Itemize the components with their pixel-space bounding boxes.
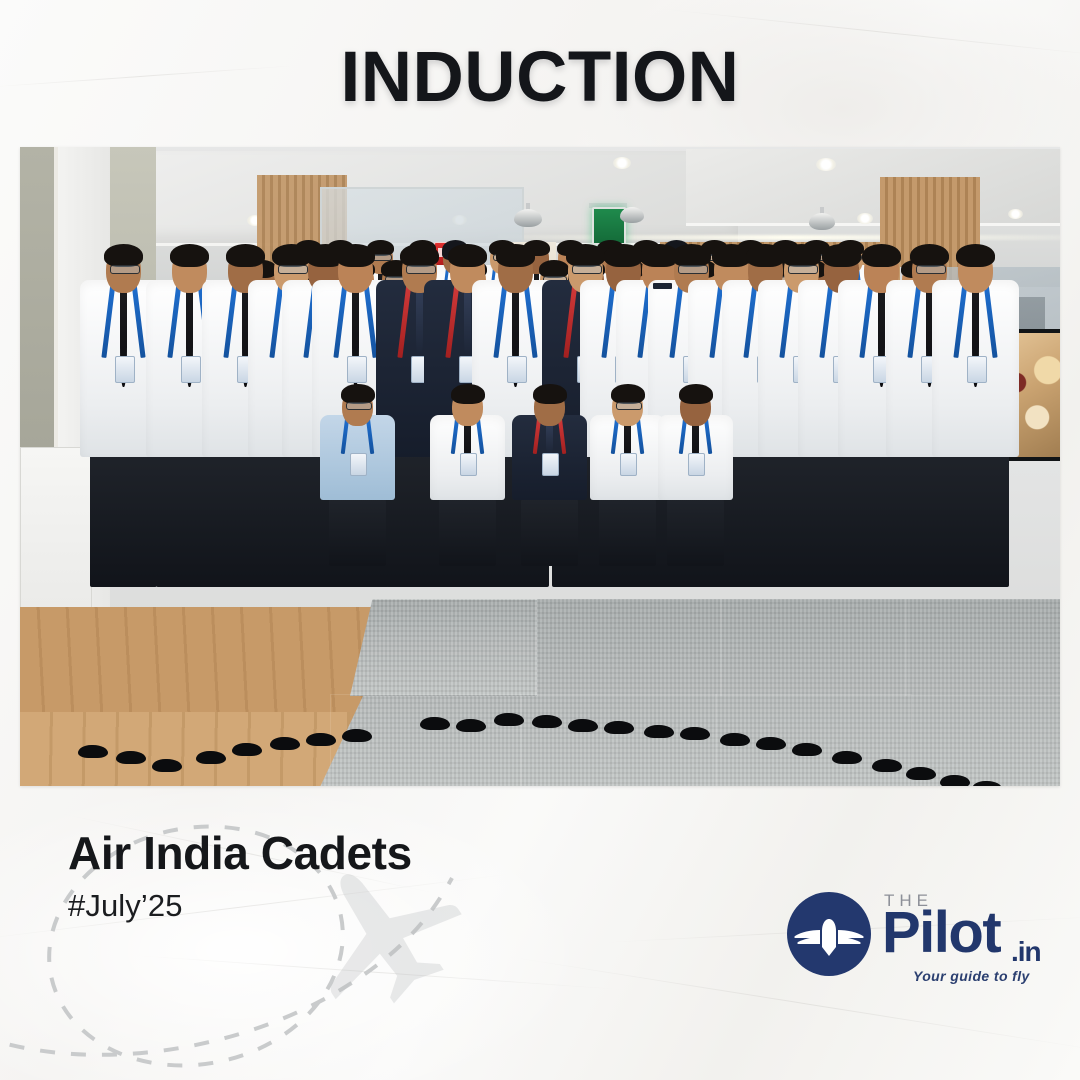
- pilot-wings-icon: [787, 892, 871, 976]
- logo-circle: [787, 892, 871, 976]
- person: [430, 383, 505, 544]
- caption-block: Air India Cadets #July’25: [68, 830, 412, 924]
- person: [320, 383, 395, 544]
- id-badge: [542, 453, 559, 476]
- hair: [341, 384, 375, 404]
- ceiling-recess: [686, 149, 1060, 226]
- shoe: [644, 725, 674, 738]
- id-badge: [115, 356, 135, 383]
- trousers: [942, 445, 1008, 587]
- security-camera-icon: [620, 207, 644, 223]
- page-title-container: INDUCTION: [0, 34, 1080, 120]
- shoe: [720, 733, 750, 746]
- carpet-tile: [520, 694, 717, 786]
- carpet-tile: [535, 599, 722, 696]
- shoe: [270, 737, 300, 750]
- downlight: [816, 158, 836, 171]
- shoe: [906, 767, 936, 780]
- id-badge: [347, 356, 367, 383]
- trousers: [329, 498, 386, 567]
- brand-logo[interactable]: THE Pilot .in Your guide to fly: [787, 888, 1049, 988]
- id-badge: [181, 356, 201, 383]
- shoe: [680, 727, 710, 740]
- shoe: [494, 713, 524, 726]
- caption-title: Air India Cadets: [68, 830, 412, 878]
- downlight: [613, 157, 631, 169]
- shoe: [420, 717, 450, 730]
- trousers: [667, 498, 724, 567]
- group-photo: [20, 147, 1060, 786]
- shoe: [940, 775, 970, 786]
- hair: [611, 384, 645, 404]
- epaulette: [653, 283, 672, 289]
- caption-subtitle: #July’25: [68, 888, 412, 924]
- id-badge: [350, 453, 367, 476]
- eyeglasses-icon: [346, 402, 372, 411]
- id-badge: [620, 453, 637, 476]
- carpet-tile: [720, 599, 907, 696]
- logo-tagline: Your guide to fly: [913, 968, 1030, 984]
- shoe: [532, 715, 562, 728]
- hair: [496, 244, 535, 267]
- security-camera-icon: [514, 209, 542, 227]
- marble-vein: [130, 955, 626, 991]
- hair: [956, 244, 995, 267]
- shoe: [116, 751, 146, 764]
- shoe: [832, 751, 862, 764]
- logo-name-text: Pilot: [882, 904, 1000, 962]
- logo-tld-text: .in: [1011, 936, 1041, 968]
- trousers: [521, 498, 578, 567]
- person: [658, 383, 733, 544]
- poster-canvas: INDUCTION: [0, 0, 1080, 1080]
- hair: [679, 384, 713, 404]
- shoe: [872, 759, 902, 772]
- person: [590, 383, 665, 544]
- hair: [336, 244, 375, 267]
- downlight: [1008, 209, 1023, 219]
- id-badge: [507, 356, 527, 383]
- shoe: [306, 733, 336, 746]
- carpet-tile: [350, 599, 537, 696]
- shoe: [196, 751, 226, 764]
- shoe: [342, 729, 372, 742]
- person: [512, 383, 587, 544]
- security-camera-icon: [809, 213, 835, 230]
- wood-floor: [20, 712, 350, 786]
- trousers: [599, 498, 656, 567]
- page-title: INDUCTION: [341, 42, 740, 113]
- hair: [104, 244, 143, 267]
- person: [932, 243, 1019, 542]
- shoe: [78, 745, 108, 758]
- shoe: [152, 759, 182, 772]
- trousers: [439, 498, 496, 567]
- shoe: [232, 743, 262, 756]
- shoe: [756, 737, 786, 750]
- eyeglasses-icon: [616, 402, 642, 411]
- id-badge: [460, 453, 477, 476]
- hair: [533, 384, 567, 404]
- shoe: [792, 743, 822, 756]
- shoe: [568, 719, 598, 732]
- eyeglasses-icon: [110, 265, 140, 275]
- necktie: [416, 286, 424, 362]
- id-badge: [967, 356, 987, 383]
- necktie: [464, 286, 472, 362]
- carpet-tile: [905, 599, 1060, 696]
- shoe: [456, 719, 486, 732]
- hair: [451, 384, 485, 404]
- shoe: [604, 721, 634, 734]
- id-badge: [688, 453, 705, 476]
